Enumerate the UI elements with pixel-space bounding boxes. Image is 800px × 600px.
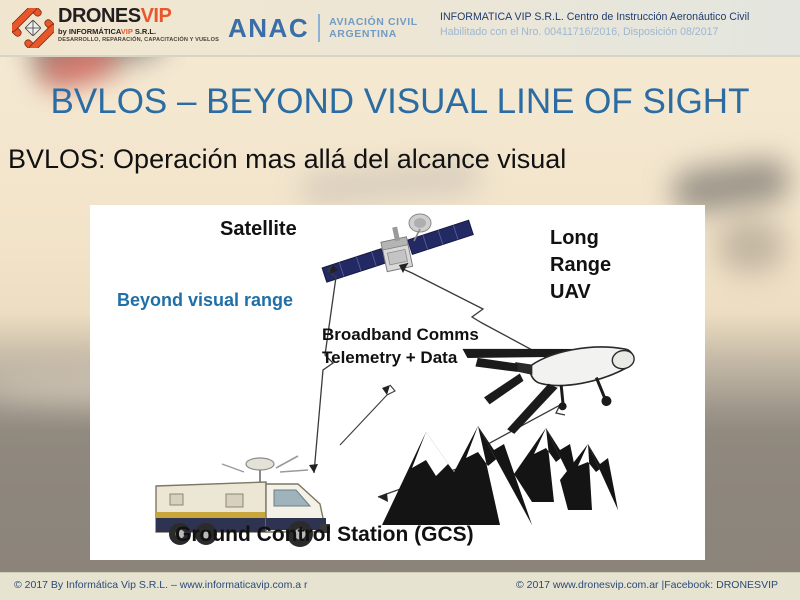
background-blur-shadow-right [716,218,786,274]
anac-divider [318,14,320,42]
uplink-gcs-satellite [314,265,336,473]
diagram-graphics [90,205,705,560]
anac-line-2: ARGENTINA [329,28,418,40]
dronesvip-wordmark: DRONESVIP by INFORMÁTICAVIP S.R.L. DESAR… [58,6,219,44]
brand-sub-vip: VIP [121,27,133,36]
label-broadband-comms: Broadband Comms Telemetry + Data [322,323,479,369]
label-long-range-line-3: UAV [550,279,611,306]
slide-canvas: DRONESVIP by INFORMÁTICAVIP S.R.L. DESAR… [0,0,800,600]
label-long-range-line-1: Long [550,225,611,252]
label-beyond-visual-range: Beyond visual range [117,290,293,311]
page-subtitle: BVLOS: Operación mas allá del alcance vi… [8,144,798,175]
mountains-icon [382,426,632,528]
anac-line-1: AVIACIÓN CIVIL [329,16,418,28]
satellite-icon [322,214,473,282]
label-long-range-line-2: Range [550,252,611,279]
brand-vip: VIP [141,5,172,27]
anac-subtitle: AVIACIÓN CIVIL ARGENTINA [329,16,418,40]
label-satellite: Satellite [220,218,297,241]
anac-logo[interactable]: ANAC AVIACIÓN CIVIL ARGENTINA [228,14,418,42]
brand-informatica: INFORMÁTICA [69,27,121,36]
footer-copyright-right: © 2017 www.dronesvip.com.ar |Facebook: D… [516,579,778,591]
label-long-range-uav: Long Range UAV [550,225,611,306]
brand-drones: DRONES [58,5,141,27]
brand-srl: S.R.L. [133,27,156,36]
certification-line-2: Habilitado con el Nro. 00411716/2016, Di… [440,25,792,40]
brand-name: DRONESVIP [58,6,219,27]
long-range-uav-icon [462,314,644,440]
brand-subline: by INFORMÁTICAVIP S.R.L. [58,27,219,36]
dronesvip-logo[interactable]: DRONESVIP by INFORMÁTICAVIP S.R.L. DESAR… [12,6,222,50]
label-ground-control-station: Ground Control Station (GCS) [175,523,474,547]
brand-by: by [58,27,69,36]
page-header: DRONESVIP by INFORMÁTICAVIP S.R.L. DESAR… [0,0,800,56]
certification-line-1: INFORMATICA VIP S.R.L. Centro de Instruc… [440,10,792,25]
anac-wordmark: ANAC [228,15,309,41]
label-broadband-line-1: Broadband Comms [322,323,479,346]
header-divider [0,55,800,57]
label-broadband-line-2: Telemetry + Data [322,346,479,369]
brand-tagline: DESARROLLO, REPARACIÓN, CAPACITACIÓN Y V… [58,36,219,44]
drone-quadcopter-icon [12,8,54,48]
diagram-panel: Satellite Beyond visual range Broadband … [90,205,705,560]
certification-text: INFORMATICA VIP S.R.L. Centro de Instruc… [440,10,792,40]
page-title: BVLOS – BEYOND VISUAL LINE OF SIGHT [0,82,800,122]
page-footer: © 2017 By Informática Vip S.R.L. – www.i… [0,572,800,600]
footer-copyright-left: © 2017 By Informática Vip S.R.L. – www.i… [14,579,308,591]
